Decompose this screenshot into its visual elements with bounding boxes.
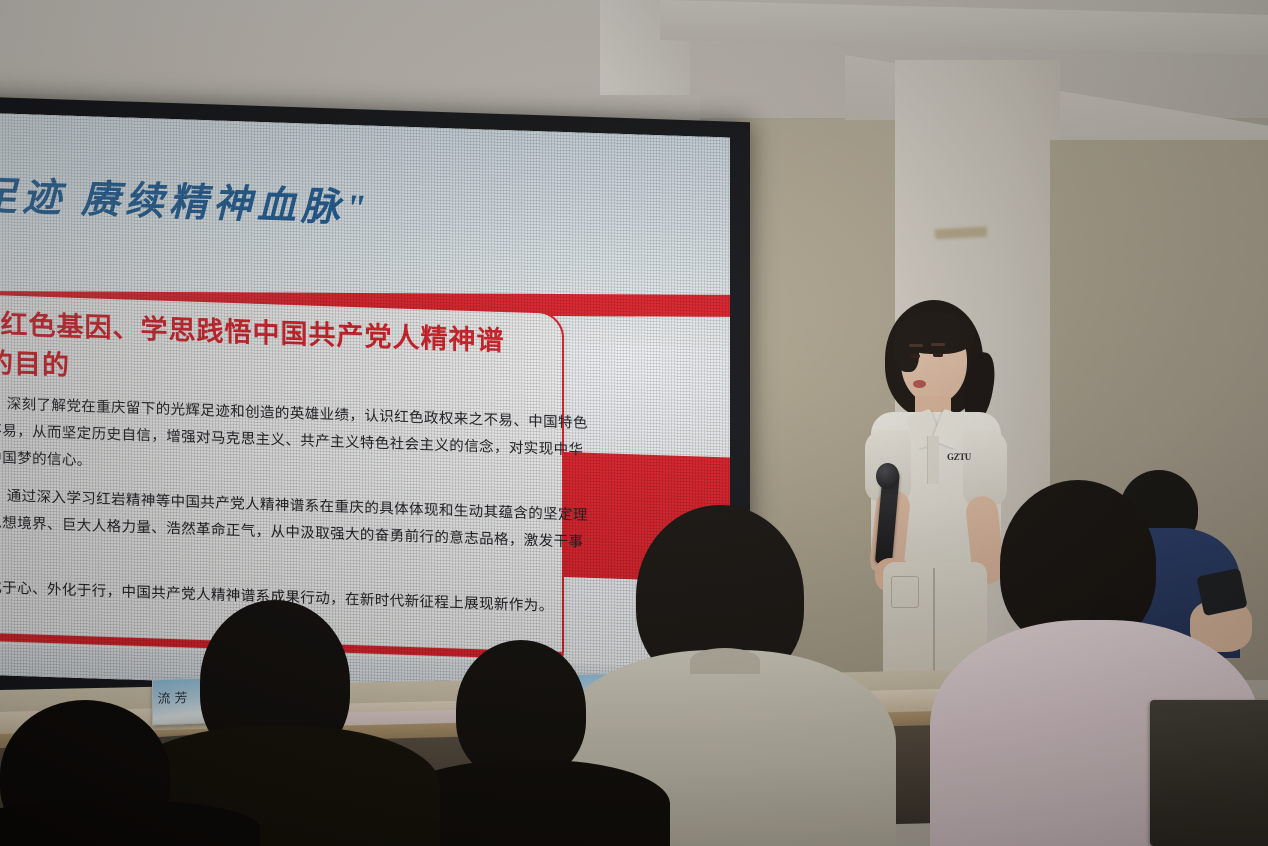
presenter-brow [909,344,923,347]
presenter-shirt-placket [927,436,939,484]
presenter-brow [931,343,945,346]
presenter-eye [933,353,943,357]
chair-back[interactable] [1150,700,1268,846]
led-screen-display[interactable]: 红岩足迹 赓续精神血脉" 展“传承红色基因、学思践悟中国共产党人精神谱 育活动的… [0,112,730,700]
presenter-sleeve-right [963,430,1007,506]
shirt-logo: GZTU [947,452,971,462]
presenter-side-hair [893,324,919,372]
jeans-pocket [891,576,919,608]
attendee-collar [690,648,760,674]
list-item [456,640,586,780]
placard-text: 流芳 [158,687,192,707]
presenter-mouth [913,380,926,388]
presenter-eye [910,354,920,358]
lecture-hall-photo: 红岩足迹 赓续精神血脉" 展“传承红色基因、学思践悟中国共产党人精神谱 育活动的… [0,0,1268,846]
